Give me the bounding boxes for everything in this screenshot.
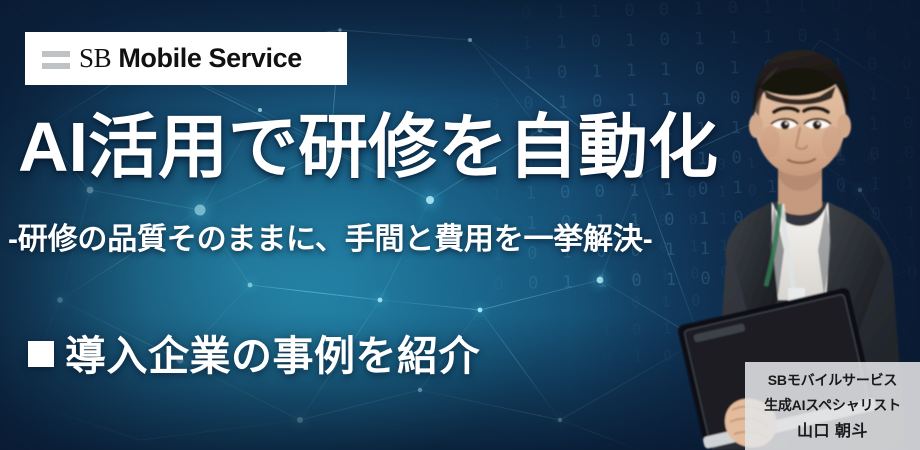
softbank-equals-mark-icon — [42, 51, 70, 69]
speaker-company: SBモバイルサービス — [768, 369, 897, 392]
logo-sb-text: SB — [79, 43, 111, 73]
sb-mobile-service-logo: SB Mobile Service — [25, 32, 347, 85]
speaker-name-card: SBモバイルサービス 生成AIスペシャリスト 山口 朝斗 — [745, 362, 920, 450]
page-title: AI活用で研修を自動化 — [18, 112, 808, 183]
feature-callout: 導入企業の事例を紹介 — [28, 322, 480, 382]
logo-mobile-service-text: Mobile Service — [111, 43, 302, 73]
bullet-square-icon — [28, 341, 54, 367]
page-subtitle: -研修の品質そのままに、手間と費用を一挙解決- — [8, 214, 652, 258]
webinar-banner: 1 0 1 1 0 0 1 0 1 1 0 1 0 0 1 1 0 1 1 0 … — [0, 0, 920, 450]
logo-wordmark: SB Mobile Service — [79, 45, 302, 72]
feature-callout-label: 導入企業の事例を紹介 — [65, 322, 480, 382]
speaker-role: 生成AIスペシャリスト — [764, 394, 901, 417]
speaker-name: 山口 朝斗 — [797, 419, 868, 445]
